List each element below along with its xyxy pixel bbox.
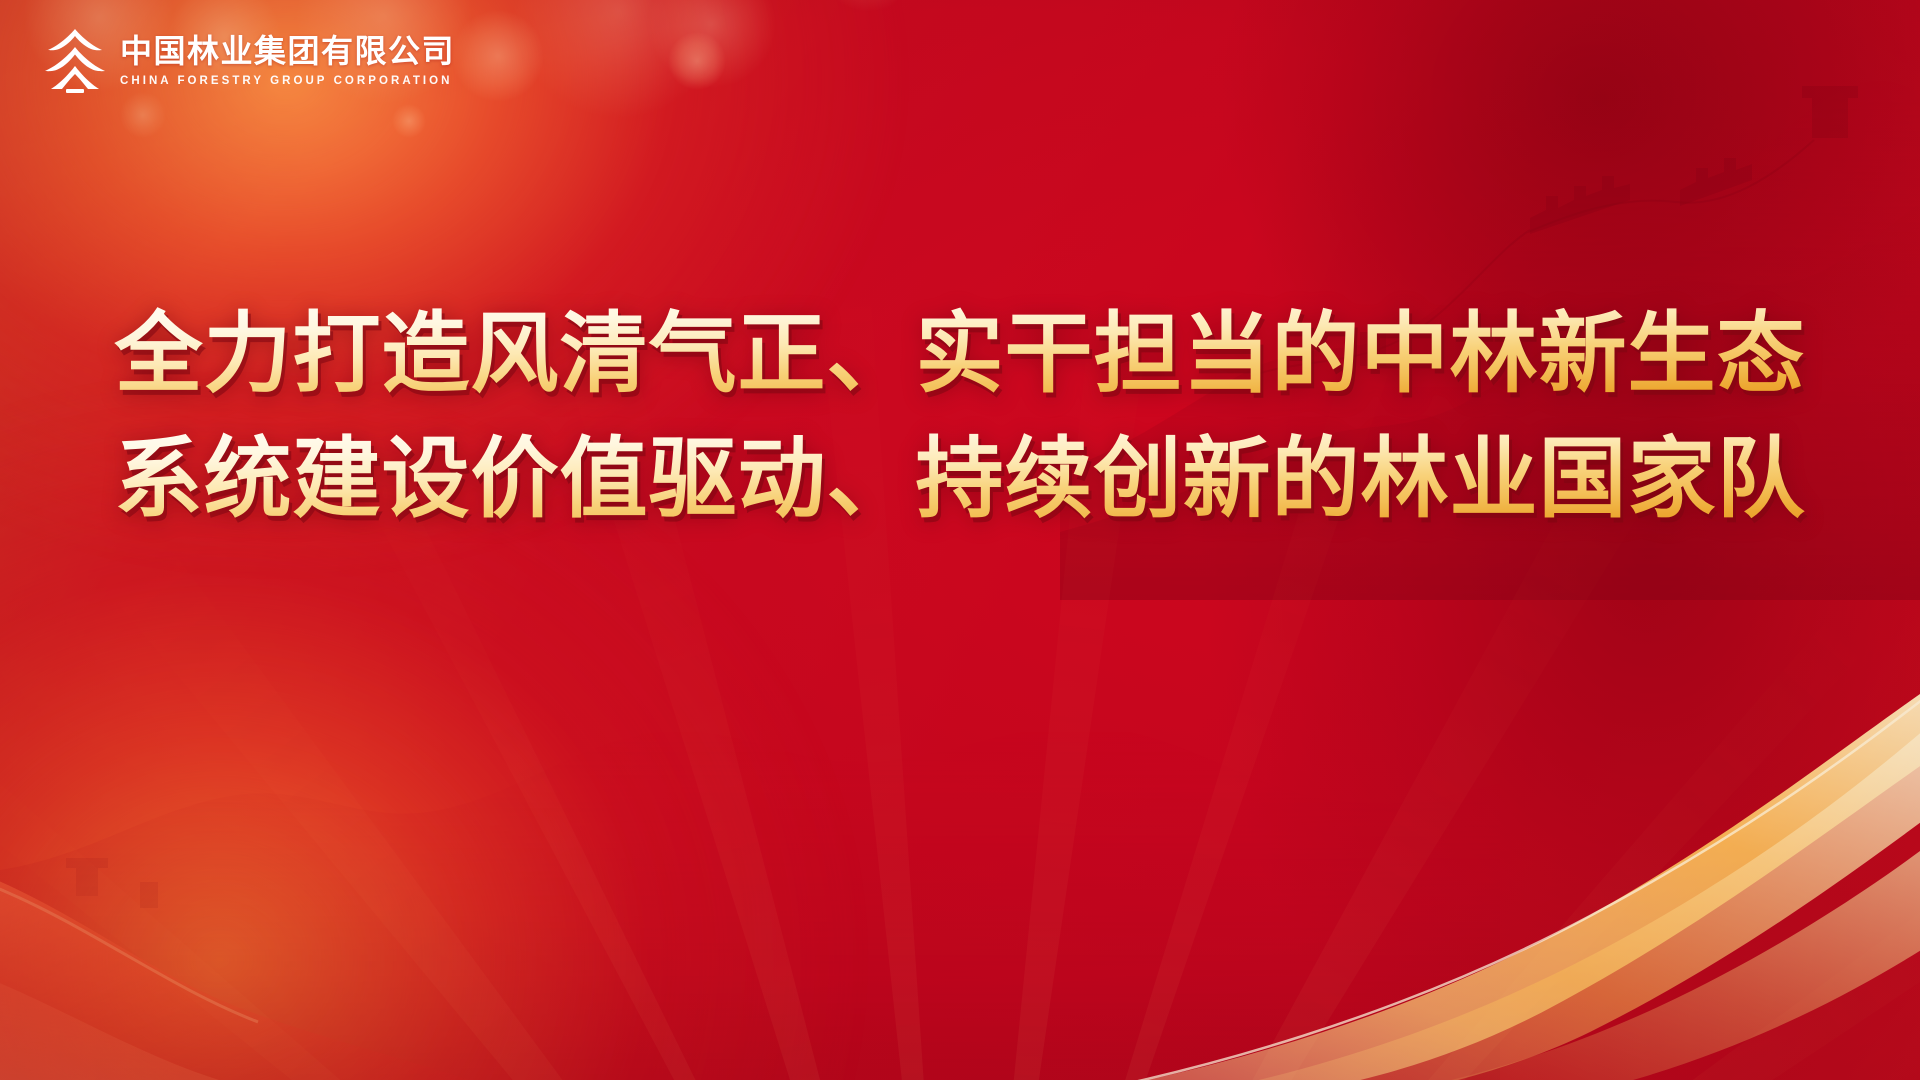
gold-ribbon-swoosh bbox=[940, 690, 1920, 1080]
bokeh-circle bbox=[668, 32, 726, 90]
headline-line-2-text: 系统建设价值驱动、持续创新的林业国家队 bbox=[114, 429, 1805, 528]
red-silk-drape bbox=[0, 740, 700, 1080]
china-forestry-group-pagoda-tree-icon bbox=[44, 28, 106, 94]
headline-slogan: 全力打造风清气正、实干担当的中林新生态 系统建设价值驱动、持续创新的林业国家队 bbox=[0, 292, 1920, 542]
bokeh-circle bbox=[392, 104, 426, 138]
company-name-cn: 中国林业集团有限公司 bbox=[120, 35, 455, 69]
brand-logo-text: 中国林业集团有限公司 CHINA FORESTRY GROUP CORPORAT… bbox=[120, 35, 455, 87]
bokeh-circle bbox=[512, 0, 726, 118]
banner-canvas: 中国林业集团有限公司 CHINA FORESTRY GROUP CORPORAT… bbox=[0, 0, 1920, 1080]
bokeh-circle bbox=[452, 10, 544, 102]
brand-logo-block: 中国林业集团有限公司 CHINA FORESTRY GROUP CORPORAT… bbox=[44, 28, 455, 94]
headline-line-2: 系统建设价值驱动、持续创新的林业国家队 bbox=[36, 417, 1884, 542]
bottom-mountain-texture-icon bbox=[0, 620, 1500, 1080]
headline-line-1: 全力打造风清气正、实干担当的中林新生态 bbox=[36, 292, 1884, 417]
bokeh-circle bbox=[820, 0, 916, 12]
bokeh-circle bbox=[648, 0, 776, 88]
headline-line-1-text: 全力打造风清气正、实干担当的中林新生态 bbox=[114, 304, 1805, 403]
company-name-en: CHINA FORESTRY GROUP CORPORATION bbox=[120, 76, 455, 88]
bokeh-circle bbox=[120, 92, 166, 138]
